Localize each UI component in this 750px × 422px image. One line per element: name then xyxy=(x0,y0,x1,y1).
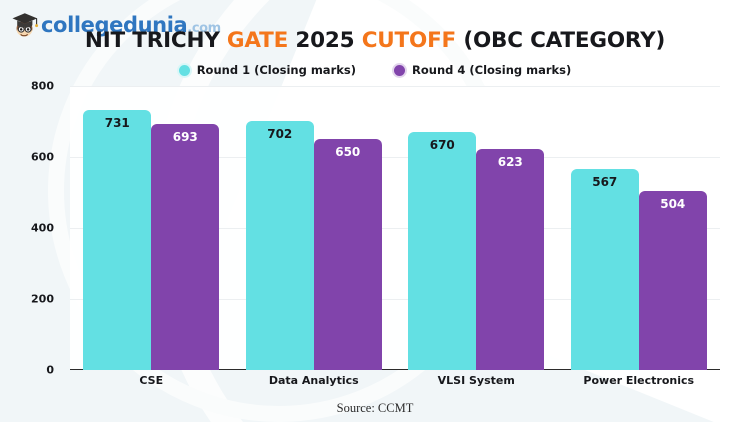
bar-value-label: 567 xyxy=(571,176,639,188)
legend-item-round-1: Round 1 (Closing marks) xyxy=(179,63,356,77)
y-axis-labels: 800 600 400 200 0 xyxy=(0,86,62,370)
bar-chart-plot: 731 693 702 650 670 623 xyxy=(70,86,720,370)
chart-canvas: collegedunia.com NIT TRICHY GATE 2025 CU… xyxy=(0,0,750,422)
bar-round4-data-analytics[interactable]: 650 xyxy=(314,139,382,370)
title-highlight-cutoff: CUTOFF xyxy=(362,28,456,53)
title-part-1: NIT TRICHY xyxy=(85,28,227,53)
bar-value-label: 670 xyxy=(408,139,476,151)
bar-round4-vlsi-system[interactable]: 623 xyxy=(476,149,544,370)
bar-round4-cse[interactable]: 693 xyxy=(151,124,219,370)
title-part-2: 2025 xyxy=(288,28,362,53)
bar-group-power-electronics: 567 504 xyxy=(558,86,721,370)
bar-round1-power-electronics[interactable]: 567 xyxy=(571,169,639,370)
legend-item-round-4: Round 4 (Closing marks) xyxy=(394,63,571,77)
bar-value-label: 693 xyxy=(151,131,219,143)
y-tick-0: 0 xyxy=(0,364,54,377)
page-title: NIT TRICHY GATE 2025 CUTOFF (OBC CATEGOR… xyxy=(0,28,750,53)
x-label-vlsi-system: VLSI System xyxy=(395,374,558,387)
bar-group-data-analytics: 702 650 xyxy=(233,86,396,370)
x-label-data-analytics: Data Analytics xyxy=(233,374,396,387)
bar-value-label: 504 xyxy=(639,198,707,210)
bar-value-label: 702 xyxy=(246,128,314,140)
x-label-cse: CSE xyxy=(70,374,233,387)
bar-round1-cse[interactable]: 731 xyxy=(83,110,151,370)
title-part-3: (OBC CATEGORY) xyxy=(456,28,665,53)
bar-round4-power-electronics[interactable]: 504 xyxy=(639,191,707,370)
chart-legend: Round 1 (Closing marks) Round 4 (Closing… xyxy=(0,63,750,77)
y-tick-600: 600 xyxy=(0,151,54,164)
y-tick-800: 800 xyxy=(0,80,54,93)
bar-value-label: 650 xyxy=(314,146,382,158)
title-highlight-gate: GATE xyxy=(227,28,288,53)
legend-dot-icon xyxy=(179,65,190,76)
x-label-power-electronics: Power Electronics xyxy=(558,374,721,387)
legend-label-round-1: Round 1 (Closing marks) xyxy=(197,63,356,77)
bar-value-label: 731 xyxy=(83,117,151,129)
y-tick-200: 200 xyxy=(0,293,54,306)
bar-round1-data-analytics[interactable]: 702 xyxy=(246,121,314,370)
bar-value-label: 623 xyxy=(476,156,544,168)
bar-round1-vlsi-system[interactable]: 670 xyxy=(408,132,476,370)
legend-dot-icon xyxy=(394,65,405,76)
bar-group-cse: 731 693 xyxy=(70,86,233,370)
bar-group-vlsi-system: 670 623 xyxy=(395,86,558,370)
bar-groups: 731 693 702 650 670 623 xyxy=(70,86,720,370)
y-tick-400: 400 xyxy=(0,222,54,235)
legend-label-round-4: Round 4 (Closing marks) xyxy=(412,63,571,77)
source-caption: Source: CCMT xyxy=(0,401,750,416)
x-axis-labels: CSE Data Analytics VLSI System Power Ele… xyxy=(70,374,720,387)
